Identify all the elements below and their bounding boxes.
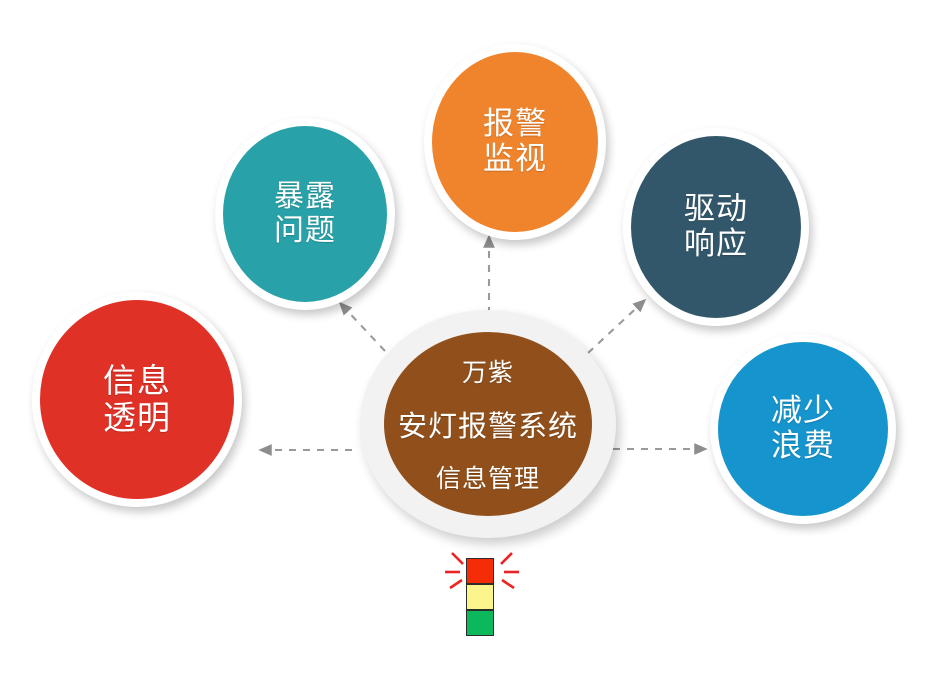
andon-light-tower[interactable] (466, 558, 496, 644)
ray-right-lower (502, 580, 514, 588)
ray-left-upper (452, 553, 463, 564)
node-monitor-line1: 报警 (483, 107, 547, 142)
node-drive-line2: 响应 (684, 227, 748, 262)
andon-lamp-green-icon (466, 610, 494, 636)
node-expose-line2: 问题 (274, 214, 336, 248)
node-info-line2: 透明 (103, 400, 171, 437)
node-info-label: 信息 透明 (103, 363, 171, 437)
node-info[interactable]: 信息 透明 (32, 292, 242, 507)
node-center-disc: 万紫 安灯报警系统 信息管理 (384, 332, 592, 516)
andon-lamp-yellow-icon (466, 584, 494, 610)
node-drive[interactable]: 驱动 响应 (623, 128, 809, 326)
node-center-hub[interactable]: 万紫 安灯报警系统 信息管理 (360, 310, 616, 538)
center-line-3: 信息管理 (436, 459, 540, 495)
node-info-line1: 信息 (103, 363, 171, 400)
node-waste-line1: 减少 (771, 394, 835, 429)
andon-lamp-red-icon (466, 558, 494, 584)
node-waste-label: 减少 浪费 (771, 394, 835, 463)
node-expose-line1: 暴露 (274, 180, 336, 214)
node-monitor-line2: 监视 (483, 142, 547, 177)
node-monitor-label: 报警 监视 (483, 107, 547, 176)
node-waste[interactable]: 减少 浪费 (710, 334, 896, 524)
node-expose[interactable]: 暴露 问题 (215, 118, 395, 310)
ray-right-upper (501, 553, 512, 564)
node-monitor[interactable]: 报警 监视 (424, 44, 606, 240)
diagram-canvas: 暴露 问题 报警 监视 驱动 响应 信息 透明 减少 浪费 (0, 0, 939, 680)
center-line-1: 万紫 (462, 353, 514, 389)
node-expose-label: 暴露 问题 (274, 180, 336, 247)
node-drive-line1: 驱动 (684, 192, 748, 227)
node-waste-line2: 浪费 (771, 429, 835, 464)
node-drive-label: 驱动 响应 (684, 192, 748, 261)
center-line-2: 安灯报警系统 (398, 403, 578, 445)
connector-up-right (588, 300, 645, 353)
connector-up-left (340, 303, 385, 351)
ray-left-lower (450, 580, 462, 588)
